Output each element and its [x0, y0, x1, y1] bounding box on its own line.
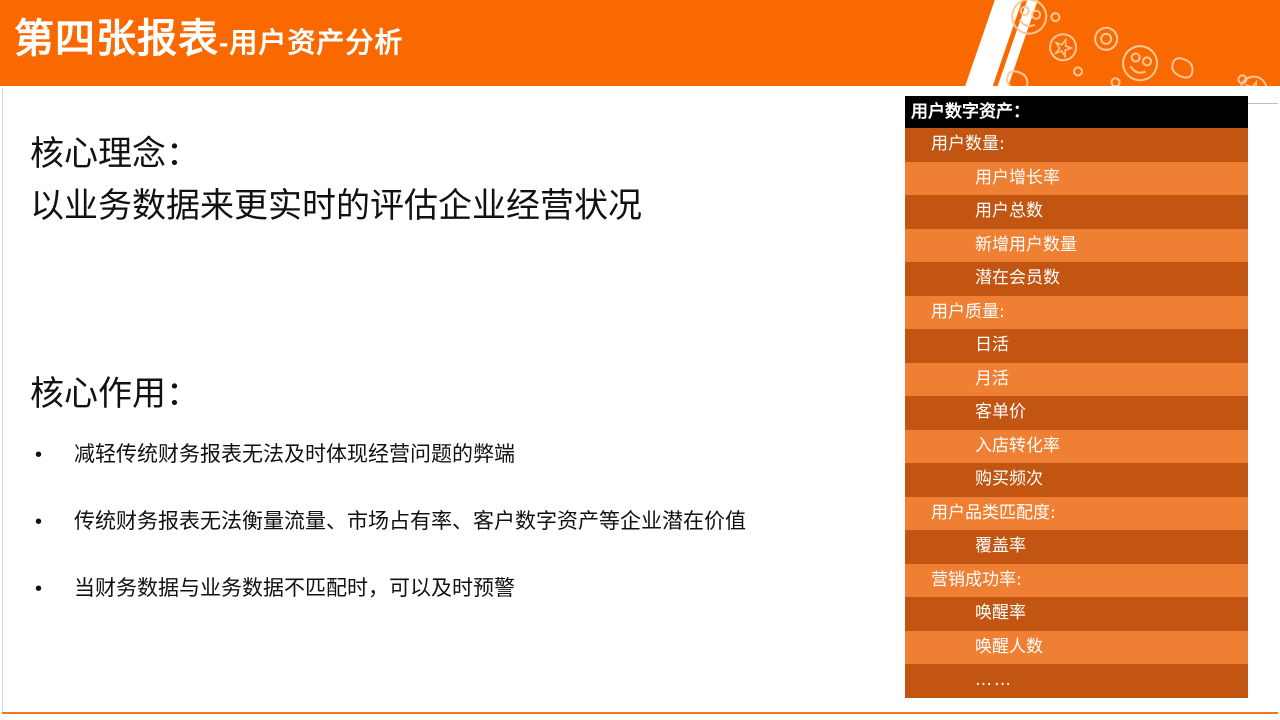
asset-table-row: 客单价 — [905, 396, 1248, 430]
doodle-faces-pattern — [969, 0, 1280, 86]
bullet-icon: • — [30, 509, 74, 535]
bullet-icon: • — [30, 442, 74, 468]
asset-table-row: 用户数量: — [905, 128, 1248, 162]
page-title-sub: -用户资产分析 — [219, 27, 403, 58]
bullet-icon: • — [30, 576, 74, 602]
asset-table-row: 营销成功率: — [905, 564, 1248, 598]
asset-table-row: 用户品类匹配度: — [905, 497, 1248, 531]
asset-table-title: 用户数字资产： — [905, 96, 1248, 128]
slide-canvas: 第四张报表-用户资产分析 — [0, 0, 1280, 720]
asset-table-row: 唤醒人数 — [905, 631, 1248, 665]
core-concept-text: 以业务数据来更实时的评估企业经营状况 — [30, 180, 642, 232]
asset-table-row: …… — [905, 664, 1248, 698]
core-concept-heading: 核心理念： — [30, 128, 200, 180]
asset-table-row: 用户总数 — [905, 195, 1248, 229]
asset-table-row: 用户增长率 — [905, 162, 1248, 196]
asset-table-row: 唤醒率 — [905, 597, 1248, 631]
asset-table-row: 覆盖率 — [905, 530, 1248, 564]
page-title: 第四张报表-用户资产分析 — [14, 12, 403, 66]
bullet-text: 传统财务报表无法衡量流量、市场占有率、客户数字资产等企业潜在价值 — [74, 508, 746, 534]
slide-body: 核心理念： 以业务数据来更实时的评估企业经营状况 核心作用： • 减轻传统财务报… — [0, 86, 900, 720]
list-item: • 减轻传统财务报表无法及时体现经营问题的弊端 — [30, 441, 890, 468]
page-title-main: 第四张报表 — [14, 17, 219, 61]
asset-table-row: 月活 — [905, 363, 1248, 397]
asset-table-row: 用户质量: — [905, 296, 1248, 330]
asset-table-row: 新增用户数量 — [905, 229, 1248, 263]
asset-table-row: 购买频次 — [905, 463, 1248, 497]
asset-table-row: 日活 — [905, 329, 1248, 363]
list-item: • 当财务数据与业务数据不匹配时，可以及时预警 — [30, 575, 890, 602]
list-item: • 传统财务报表无法衡量流量、市场占有率、客户数字资产等企业潜在价值 — [30, 508, 890, 535]
core-function-heading: 核心作用： — [30, 368, 200, 420]
bullet-text: 当财务数据与业务数据不匹配时，可以及时预警 — [74, 575, 515, 601]
slide-header-bar: 第四张报表-用户资产分析 — [0, 0, 1280, 86]
frame-border-right-stub — [1248, 103, 1278, 104]
asset-table-body: 用户数量:用户增长率用户总数新增用户数量潜在会员数用户质量:日活月活客单价入店转… — [905, 128, 1248, 698]
bullet-text: 减轻传统财务报表无法及时体现经营问题的弊端 — [74, 441, 515, 467]
asset-table-row: 入店转化率 — [905, 430, 1248, 464]
bullet-list: • 减轻传统财务报表无法及时体现经营问题的弊端 • 传统财务报表无法衡量流量、市… — [30, 441, 890, 642]
asset-table-row: 潜在会员数 — [905, 262, 1248, 296]
user-digital-asset-table: 用户数字资产： 用户数量:用户增长率用户总数新增用户数量潜在会员数用户质量:日活… — [905, 96, 1248, 698]
